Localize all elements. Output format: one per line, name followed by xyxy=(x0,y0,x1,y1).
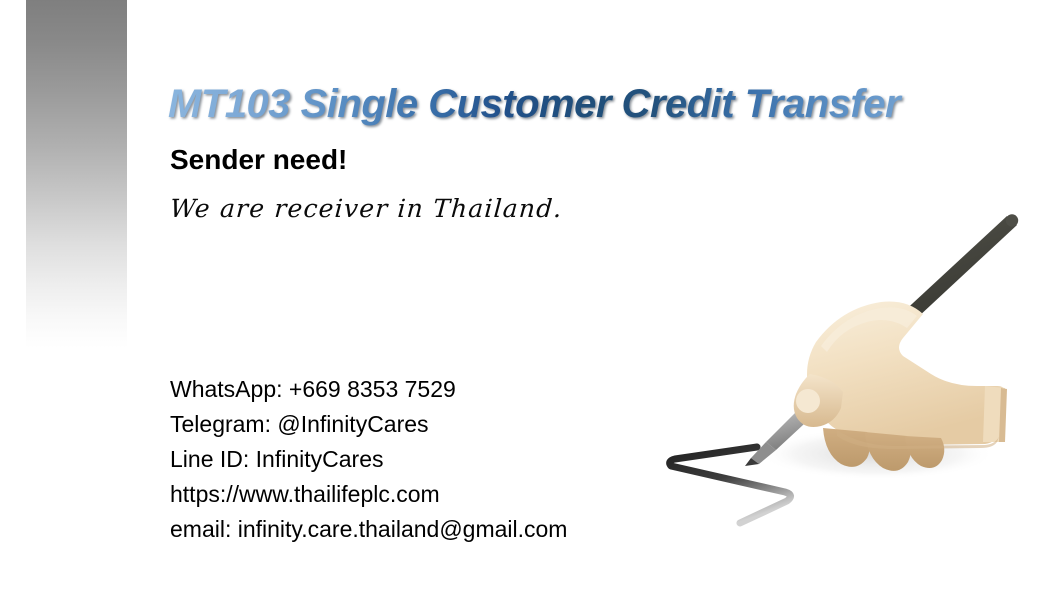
page-title-text: MT103 Single Customer Credit Transfer xyxy=(168,78,1008,130)
headline-text: Sender need! xyxy=(170,142,347,178)
sidebar-accent-bar xyxy=(26,0,127,348)
contact-line-whatsapp: WhatsApp: +669 8353 7529 xyxy=(170,372,690,407)
pen-cap-end xyxy=(1006,214,1018,226)
contact-block: WhatsApp: +669 8353 7529 Telegram: @Infi… xyxy=(170,372,690,547)
contact-line-website[interactable]: https://www.thailifeplc.com xyxy=(170,477,690,512)
contact-line-email[interactable]: email: infinity.care.thailand@gmail.com xyxy=(170,512,690,547)
slide-canvas: MT103 Single Customer Credit Transfer MT… xyxy=(0,0,1063,600)
page-title: MT103 Single Customer Credit Transfer MT… xyxy=(168,78,1008,130)
hand-writing-illustration xyxy=(645,196,1045,541)
thumb-tip-highlight xyxy=(796,389,820,413)
contact-line-telegram: Telegram: @InfinityCares xyxy=(170,407,690,442)
contact-line-lineid: Line ID: InfinityCares xyxy=(170,442,690,477)
subtitle-text: We are receiver in Thailand. xyxy=(169,192,564,226)
